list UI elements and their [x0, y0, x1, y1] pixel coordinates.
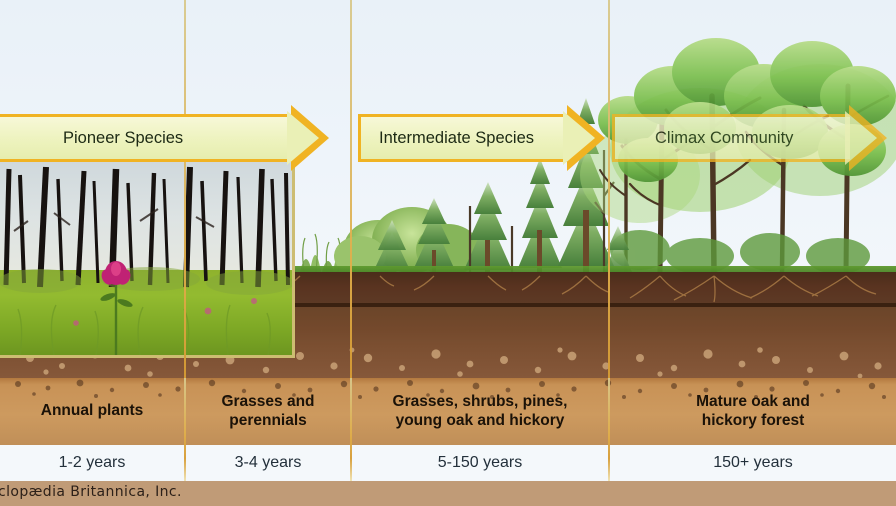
stage-name-3-line2: young oak and hickory: [396, 412, 565, 429]
britannica-credit: clopædia Britannica, Inc.: [0, 484, 182, 500]
climax-community-label: Climax Community: [655, 129, 793, 148]
climax-arrow-body: Climax Community: [612, 114, 850, 162]
stage-name-4-line2: hickory forest: [702, 412, 805, 429]
intermediate-species-label: Intermediate Species: [379, 129, 534, 148]
stage-years-4: 150+ years: [610, 445, 896, 481]
pioneer-species-label: Pioneer Species: [63, 129, 183, 148]
stage-name-4-line1: Mature oak and: [696, 393, 810, 410]
stage-years-2: 3-4 years: [186, 445, 350, 481]
stage-name-1-text: Annual plants: [41, 402, 143, 420]
photo-detail: [0, 161, 292, 355]
succession-diagram: Pioneer Species Intermediate Species Cli…: [0, 0, 896, 506]
pioneer-arrow-body: Pioneer Species: [0, 114, 292, 162]
stage-name-2-line1: Grasses and: [221, 393, 314, 410]
intermediate-arrow-body: Intermediate Species: [358, 114, 568, 162]
intermediate-arrow-head: [567, 105, 605, 171]
climax-community-arrow[interactable]: Climax Community: [612, 105, 888, 171]
pioneer-species-arrow[interactable]: Pioneer Species: [0, 105, 330, 171]
stage-name-2: Grasses and perennials: [186, 378, 350, 445]
stage-name-3: Grasses, shrubs, pines, young oak and hi…: [352, 378, 608, 445]
burned-forest-photo: [0, 158, 295, 358]
intermediate-species-arrow[interactable]: Intermediate Species: [358, 105, 606, 171]
stage-name-4: Mature oak and hickory forest: [610, 378, 896, 445]
stage-years-3: 5-150 years: [352, 445, 608, 481]
stage-name-3-line1: Grasses, shrubs, pines,: [393, 393, 568, 410]
stage-name-2-line2: perennials: [229, 412, 307, 429]
climax-arrow-head: [849, 105, 887, 171]
pioneer-arrow-head: [291, 105, 329, 171]
stage-name-1: Annual plants: [0, 378, 184, 445]
stage-years-1: 1-2 years: [0, 445, 184, 481]
